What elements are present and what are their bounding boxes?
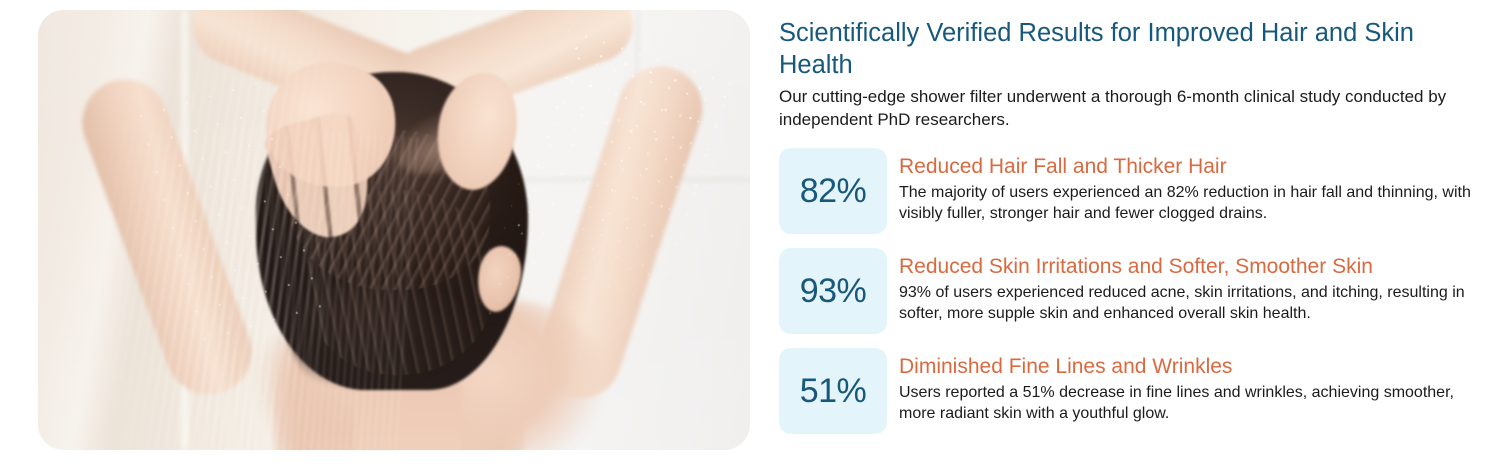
section-headline: Scientifically Verified Results for Impr… <box>779 0 1485 81</box>
stat-description: Users reported a 51% decrease in fine li… <box>899 382 1485 424</box>
results-section: Scientifically Verified Results for Impr… <box>0 0 1500 469</box>
stat-title: Diminished Fine Lines and Wrinkles <box>899 354 1485 380</box>
stat-item: 51% Diminished Fine Lines and Wrinkles U… <box>779 348 1485 434</box>
stat-description: 93% of users experienced reduced acne, s… <box>899 282 1485 324</box>
stat-value-badge: 51% <box>779 348 887 434</box>
stat-description: The majority of users experienced an 82%… <box>899 182 1485 224</box>
shower-hair-wash-photo <box>38 10 750 450</box>
stat-title: Reduced Skin Irritations and Softer, Smo… <box>899 254 1485 280</box>
stat-title: Reduced Hair Fall and Thicker Hair <box>899 154 1485 180</box>
stat-item: 93% Reduced Skin Irritations and Softer,… <box>779 248 1485 334</box>
stat-item: 82% Reduced Hair Fall and Thicker Hair T… <box>779 148 1485 234</box>
results-content: Scientifically Verified Results for Impr… <box>779 0 1485 469</box>
stat-text-block: Reduced Hair Fall and Thicker Hair The m… <box>899 148 1485 224</box>
section-subheadline: Our cutting-edge shower filter underwent… <box>779 85 1479 131</box>
hero-image-container <box>38 10 750 450</box>
stat-text-block: Diminished Fine Lines and Wrinkles Users… <box>899 348 1485 424</box>
stat-value-badge: 82% <box>779 148 887 234</box>
stat-text-block: Reduced Skin Irritations and Softer, Smo… <box>899 248 1485 324</box>
stat-value-badge: 93% <box>779 248 887 334</box>
stats-list: 82% Reduced Hair Fall and Thicker Hair T… <box>779 148 1485 434</box>
